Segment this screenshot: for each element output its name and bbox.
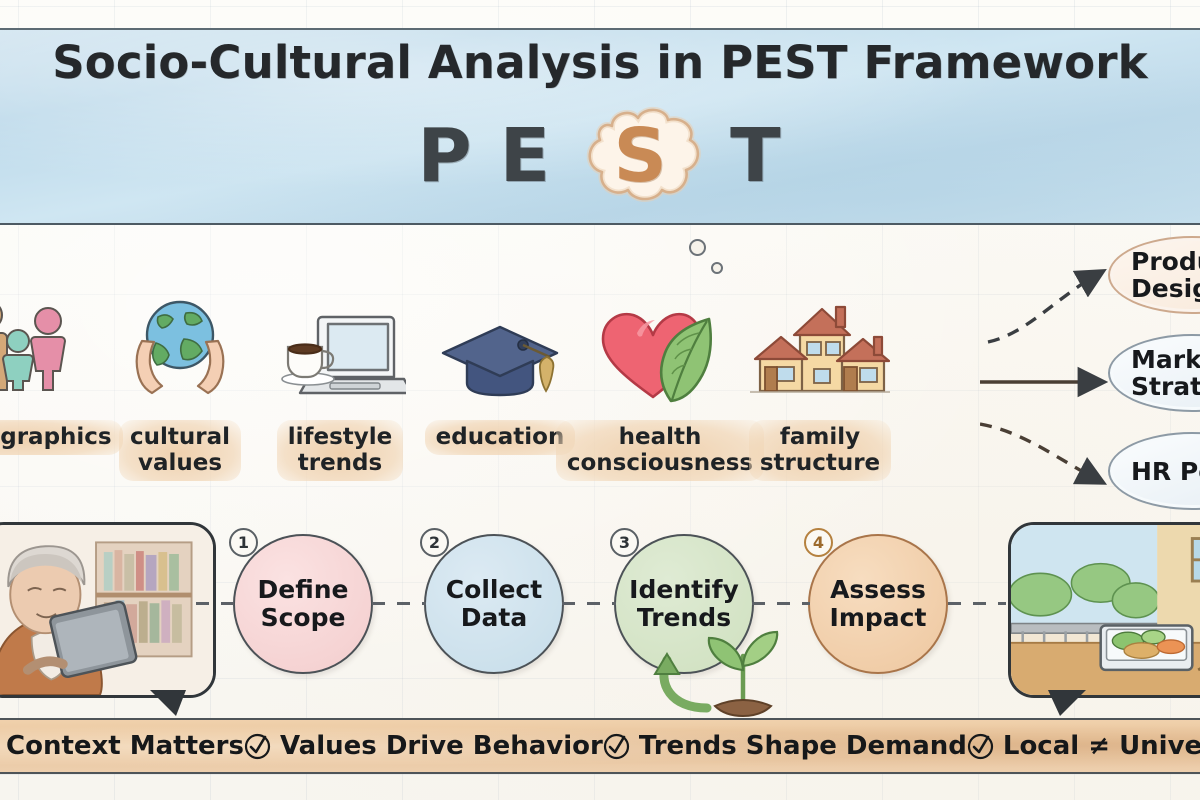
factor-health-consciousness[interactable]: health consciousness xyxy=(580,285,740,481)
speech-bubble-tail-right xyxy=(1048,690,1086,716)
hands-holding-globe-icon xyxy=(118,285,242,413)
check-circle-icon xyxy=(603,733,630,760)
pest-letter-e: E xyxy=(500,119,553,193)
pest-acronym: P E S T xyxy=(0,103,1200,208)
step-number-4: 4 xyxy=(804,528,833,557)
step-connector-3 xyxy=(752,602,810,605)
takeaway-label-values-drive-behavior: Values Drive Behavior xyxy=(280,731,603,761)
speech-bubble-tail-left xyxy=(150,690,186,716)
process-step-collect-data[interactable]: Collect Data xyxy=(424,534,564,674)
check-circle-icon xyxy=(244,733,271,760)
heart-leaf-icon xyxy=(595,285,725,413)
step-number-3: 3 xyxy=(610,528,639,557)
people-group-icon xyxy=(0,285,84,413)
step-connector-0 xyxy=(196,602,238,605)
thought-bubble-dot-large xyxy=(689,239,706,256)
output-label-hr-policies: HR Poli xyxy=(1131,458,1200,485)
pest-letter-s: S xyxy=(614,119,669,193)
takeaway-label-local-not-universal: Local ≠ Univers xyxy=(1003,731,1200,761)
graduation-cap-icon xyxy=(437,285,563,413)
step-label-define-scope: Define Scope xyxy=(258,576,349,632)
step-label-collect-data: Collect Data xyxy=(446,576,542,632)
factor-label-education: education xyxy=(425,420,576,455)
factor-label-health-consciousness: health consciousness xyxy=(556,420,764,481)
houses-icon xyxy=(750,285,890,413)
key-takeaways-banner: Context Matters Values Drive Behavior Tr… xyxy=(0,718,1200,774)
factor-cultural-values[interactable]: cultural values xyxy=(100,285,260,481)
output-hr-policies[interactable]: HR Poli xyxy=(1108,432,1200,510)
process-steps-row: Define Scope 1 Collect Data 2 Identify T… xyxy=(0,520,1200,710)
factor-label-family-structure: family structure xyxy=(749,420,891,481)
pest-letter-t: T xyxy=(730,119,782,193)
step-number-2: 2 xyxy=(420,528,449,557)
takeaway-local-not-universal[interactable]: Local ≠ Univers xyxy=(967,731,1200,761)
takeaway-trends-shape-demand[interactable]: Trends Shape Demand xyxy=(603,731,967,761)
factor-lifestyle-trends[interactable]: lifestyle trends xyxy=(260,285,420,481)
output-label-marketing-strategy: Market Strate xyxy=(1131,346,1200,400)
output-product-design[interactable]: Produ Desig xyxy=(1108,236,1200,314)
outputs-column: Produ Desig Market Strate HR Poli xyxy=(1108,236,1200,530)
output-marketing-strategy[interactable]: Market Strate xyxy=(1108,334,1200,412)
growth-arrow-head xyxy=(655,654,679,674)
step-label-assess-impact: Assess Impact xyxy=(830,576,927,632)
step-connector-4 xyxy=(948,602,1006,605)
takeaway-context-matters[interactable]: Context Matters xyxy=(6,731,244,761)
socio-cultural-factors-row: demographics cultural values xyxy=(0,285,1060,500)
takeaway-label-context-matters: Context Matters xyxy=(6,731,244,761)
check-circle-icon xyxy=(967,733,994,760)
laptop-coffee-icon xyxy=(274,285,406,413)
output-label-product-design: Produ Desig xyxy=(1131,248,1200,302)
step-connector-1 xyxy=(372,602,426,605)
process-step-assess-impact[interactable]: Assess Impact xyxy=(808,534,948,674)
page-title: Socio-Cultural Analysis in PEST Framewor… xyxy=(0,36,1200,89)
factor-label-cultural-values: cultural values xyxy=(119,420,241,481)
takeaway-values-drive-behavior[interactable]: Values Drive Behavior xyxy=(244,731,603,761)
growth-decoration xyxy=(645,612,815,722)
pest-letter-s-highlight: S xyxy=(578,104,704,208)
takeaway-label-trends-shape-demand: Trends Shape Demand xyxy=(639,731,967,761)
step-number-1: 1 xyxy=(229,528,258,557)
thought-bubble-dot-small xyxy=(711,262,723,274)
infographic-canvas: Socio-Cultural Analysis in PEST Framewor… xyxy=(0,0,1200,800)
factor-family-structure[interactable]: family structure xyxy=(740,285,900,481)
seedling-sprout-icon xyxy=(709,632,777,716)
step-connector-2 xyxy=(562,602,616,605)
process-step-define-scope[interactable]: Define Scope xyxy=(233,534,373,674)
factor-label-lifestyle-trends: lifestyle trends xyxy=(277,420,404,481)
factor-demographics[interactable]: demographics xyxy=(0,285,100,455)
pest-letter-p: P xyxy=(417,119,473,193)
